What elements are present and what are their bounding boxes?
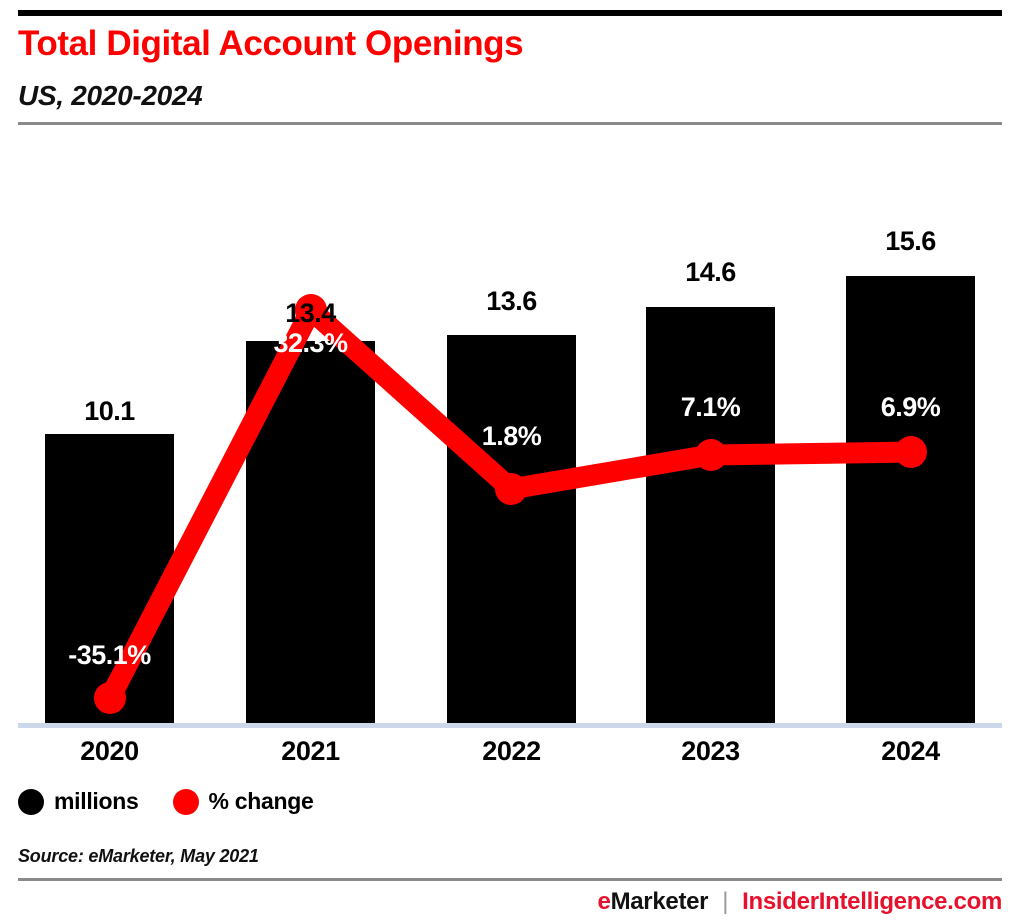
bar-value-2022: 13.6 xyxy=(447,286,576,317)
bar-2020 xyxy=(45,434,174,725)
pct-value-2024: 6.9% xyxy=(846,392,975,423)
brand-separator: | xyxy=(722,888,728,916)
plot-area: 10.1 13.4 13.6 14.6 15.6 -35.1% 32.3% 1.… xyxy=(0,0,1020,920)
chart-page: Total Digital Account Openings US, 2020-… xyxy=(0,0,1020,920)
bar-2022 xyxy=(447,335,576,725)
brand-emarketer-e: e xyxy=(598,888,611,915)
bar-2021 xyxy=(246,341,375,725)
legend-item-percent-change: % change xyxy=(173,788,314,815)
pct-value-2023: 7.1% xyxy=(646,392,775,423)
legend-label-percent-change: % change xyxy=(209,788,314,815)
x-axis-line xyxy=(18,723,1002,728)
x-tick-2022: 2022 xyxy=(447,736,576,767)
legend-dot-icon-percent-change xyxy=(173,789,199,815)
x-tick-2024: 2024 xyxy=(846,736,975,767)
source-note: Source: eMarketer, May 2021 xyxy=(18,846,259,867)
bar-value-2023: 14.6 xyxy=(646,257,775,288)
pct-value-2021: 32.3% xyxy=(246,328,375,359)
footer-rule xyxy=(18,878,1002,881)
bar-2023 xyxy=(646,307,775,725)
legend-dot-icon-millions xyxy=(18,789,44,815)
x-tick-2023: 2023 xyxy=(646,736,775,767)
bar-value-2021: 13.4 xyxy=(246,298,375,329)
x-tick-2021: 2021 xyxy=(246,736,375,767)
brand-emarketer: eMarketer xyxy=(598,888,709,916)
bar-value-2024: 15.6 xyxy=(846,226,975,257)
x-tick-2020: 2020 xyxy=(45,736,174,767)
bar-value-2020: 10.1 xyxy=(45,396,174,427)
brand-insiderintelligence: InsiderIntelligence.com xyxy=(742,888,1002,916)
legend-item-millions: millions xyxy=(18,788,139,815)
pct-value-2020: -35.1% xyxy=(45,640,174,671)
pct-value-2022: 1.8% xyxy=(447,421,576,452)
legend-label-millions: millions xyxy=(54,788,139,815)
bar-2024 xyxy=(846,276,975,725)
brand-emarketer-rest: Marketer xyxy=(611,888,709,915)
brand-footer: eMarketer | InsiderIntelligence.com xyxy=(598,888,1003,916)
chart-legend: millions % change xyxy=(18,788,313,815)
